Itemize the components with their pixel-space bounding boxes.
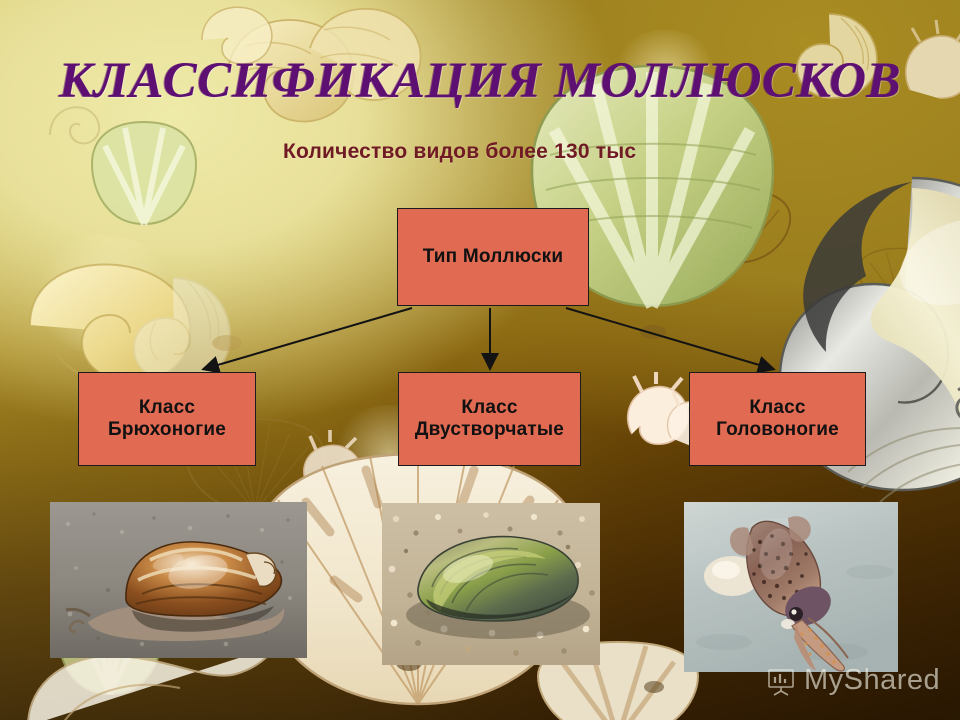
scallop-shell-outline-icon [855, 245, 945, 307]
scallop-shell-icon [88, 120, 200, 228]
node-class-bivalvia[interactable]: Класс Двустворчатые [398, 372, 581, 466]
watermark-label: MyShared [804, 664, 940, 697]
clam-photo [382, 503, 600, 665]
node-gastropoda-line1: Класс [108, 397, 226, 419]
connector-root-to-cephalopoda [566, 308, 773, 369]
node-root-label: Тип Моллюски [423, 246, 564, 268]
murex-shell-icon [612, 372, 700, 454]
snail-photo [50, 502, 307, 658]
node-bivalvia-line1: Класс [415, 397, 564, 419]
node-gastropoda-line2: Брюхоногие [108, 419, 226, 441]
node-class-gastropoda[interactable]: Класс Брюхоногие [78, 372, 256, 466]
myshared-watermark: MyShared [766, 664, 940, 697]
node-type-mollusca[interactable]: Тип Моллюски [397, 208, 589, 306]
scallop-shell-outline-icon [675, 185, 795, 267]
connector-root-to-gastropoda [204, 308, 412, 369]
node-bivalvia-line2: Двустворчатые [415, 419, 564, 441]
node-cephalopoda-line2: Головоногие [716, 419, 839, 441]
conch-shell-icon [20, 255, 200, 390]
sand-speck [642, 678, 666, 696]
subtitle-species-count: Количество видов более 130 тыс [283, 140, 636, 164]
glow-spot [860, 300, 960, 420]
presentation-board-icon [766, 666, 796, 696]
murex-shell-icon [290, 430, 376, 504]
page-title: КЛАССИФИКАЦИЯ МОЛЛЮСКОВ [30, 52, 930, 110]
slide-canvas: КЛАССИФИКАЦИЯ МОЛЛЮСКОВ Количество видов… [0, 0, 960, 720]
sand-speck [210, 332, 244, 354]
glow-spot [30, 235, 180, 355]
squid-photo [684, 502, 898, 672]
node-class-cephalopoda[interactable]: Класс Головоногие [689, 372, 866, 466]
node-cephalopoda-line1: Класс [716, 397, 839, 419]
sand-speck [638, 322, 668, 342]
